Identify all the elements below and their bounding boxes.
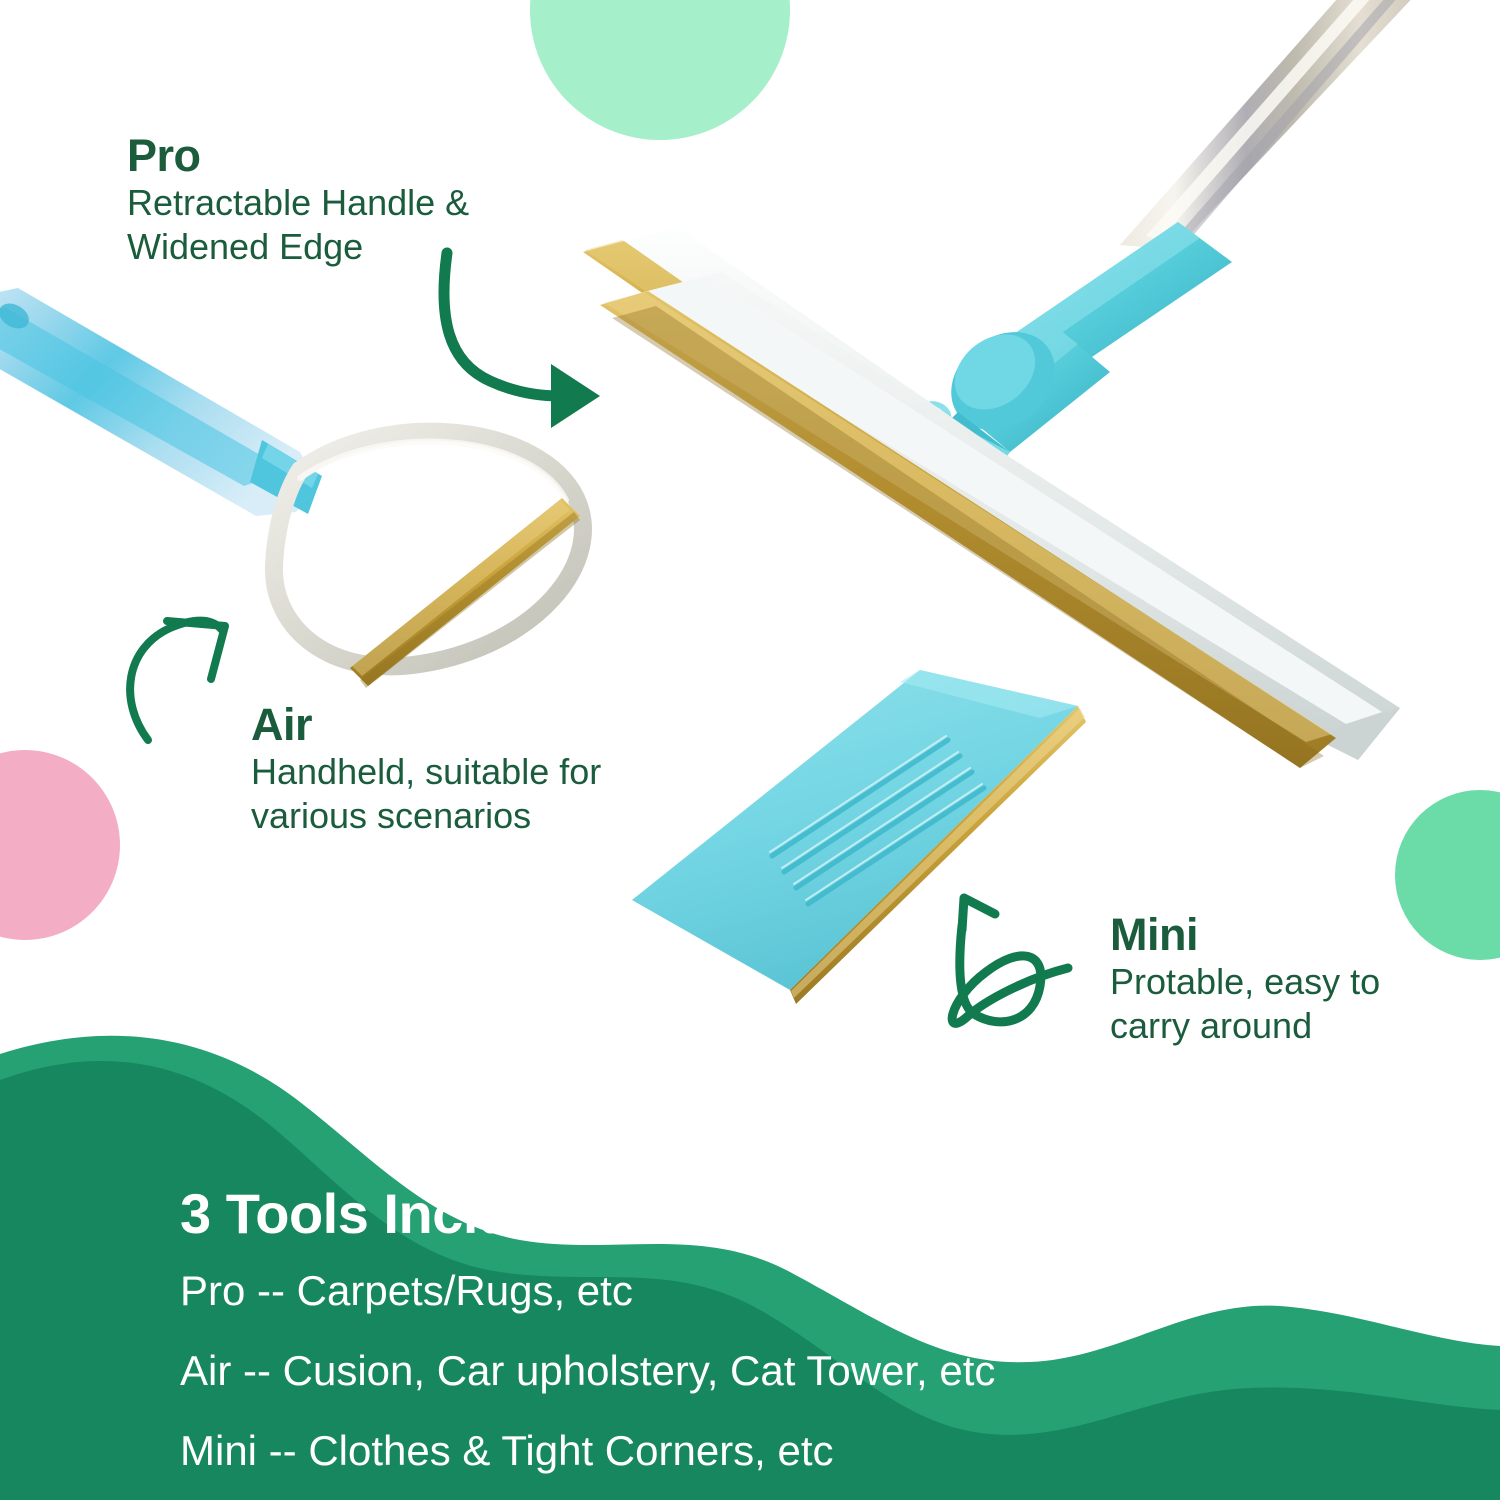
infographic-canvas: Pro Retractable Handle & Widened Edge Ai… [0, 0, 1500, 1500]
callout-pro: Pro Retractable Handle & Widened Edge [127, 133, 597, 269]
banner-line-air: Air -- Cusion, Car upholstery, Cat Tower… [180, 1350, 1380, 1392]
tools-included-banner: 3 Tools Included Pro -- Carpets/Rugs, et… [0, 1010, 1500, 1500]
callout-pro-description: Retractable Handle & Widened Edge [127, 181, 597, 269]
banner-line-mini: Mini -- Clothes & Tight Corners, etc [180, 1430, 1380, 1472]
banner-title: 3 Tools Included [180, 1186, 1380, 1242]
callout-air: Air Handheld, suitable for various scena… [251, 702, 701, 838]
banner-line-pro: Pro -- Carpets/Rugs, etc [180, 1270, 1380, 1312]
banner-text-block: 3 Tools Included Pro -- Carpets/Rugs, et… [180, 1186, 1380, 1472]
callout-mini-title: Mini [1110, 912, 1490, 958]
mini-arrow-icon [952, 898, 1068, 1023]
pro-pole [1120, 0, 1420, 250]
air-arrow-icon [130, 621, 225, 740]
pro-arrow-icon [444, 253, 600, 428]
callout-air-description: Handheld, suitable for various scenarios [251, 750, 701, 838]
callout-air-title: Air [251, 702, 701, 748]
air-tool [0, 288, 583, 688]
callout-pro-title: Pro [127, 133, 597, 179]
